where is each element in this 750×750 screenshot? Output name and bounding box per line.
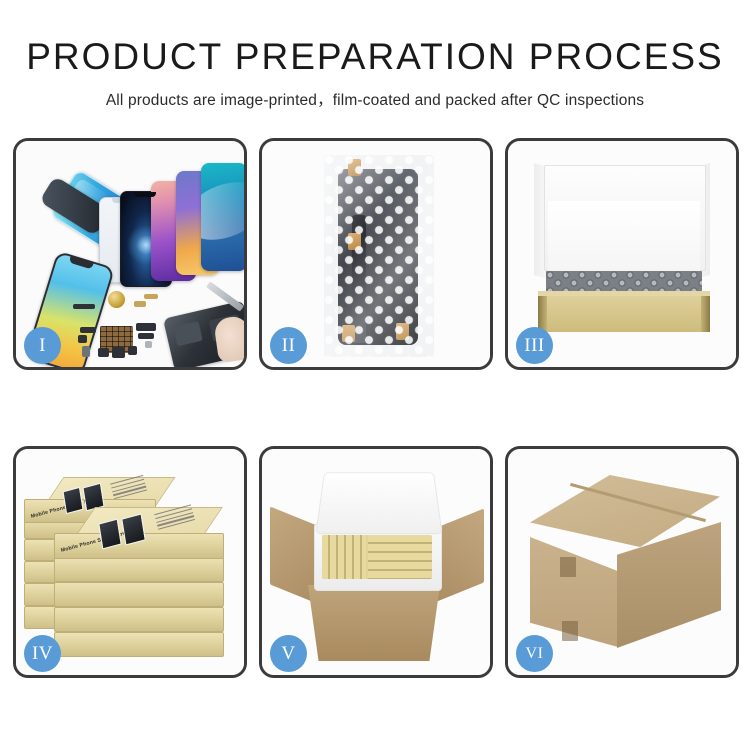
carton-tape-lower	[562, 621, 578, 641]
part-flex-cable-left	[80, 327, 96, 333]
box-label-phone-image	[121, 513, 146, 545]
step-panel-5: V	[259, 446, 493, 678]
part-button	[128, 346, 137, 355]
part-screw-set	[145, 341, 152, 348]
bubble-wrap-package	[324, 155, 434, 357]
process-steps-grid: I II	[13, 138, 739, 678]
part-connector-bar	[73, 304, 95, 309]
white-foam-sheet	[548, 201, 700, 279]
step-badge-4: IV	[24, 635, 61, 672]
page-subtitle: All products are image-printed，film-coat…	[0, 88, 750, 110]
carton-tape-upper	[560, 557, 576, 577]
step-badge-1: I	[24, 327, 61, 364]
stacked-box	[54, 557, 224, 582]
stacked-box	[54, 632, 224, 657]
stacked-box	[54, 582, 224, 607]
phone-teal-wave	[201, 163, 244, 271]
part-speaker	[98, 348, 109, 357]
box-label-phone-image	[62, 487, 83, 515]
step-panel-4: Mobile Phone Spare Parts Mobile Phone Sp…	[13, 446, 247, 678]
packed-product-boxes	[322, 535, 432, 579]
product-preparation-infographic: PRODUCT PREPARATION PROCESS All products…	[0, 0, 750, 750]
product-boxes-horizontal	[368, 535, 432, 579]
step-panel-6: VI	[505, 446, 739, 678]
part-camera-module	[112, 347, 125, 358]
header: PRODUCT PREPARATION PROCESS All products…	[0, 38, 750, 110]
part-gold-flex	[134, 301, 146, 307]
part-flex-cable-right	[136, 323, 156, 331]
carton-body	[308, 585, 440, 661]
step-panel-3: III	[505, 138, 739, 370]
part-sim-tray	[82, 346, 90, 357]
step-badge-5: V	[270, 635, 307, 672]
box-label-phone-image	[98, 519, 121, 550]
part-gold-flex-2	[144, 294, 158, 299]
part-small-block	[78, 335, 87, 343]
foam-cooler-lid	[315, 472, 442, 534]
step-badge-3: III	[516, 327, 553, 364]
technician-hand	[213, 315, 244, 363]
page-title: PRODUCT PREPARATION PROCESS	[0, 38, 750, 77]
product-boxes-vertical	[322, 535, 366, 579]
plastic-sheen	[324, 155, 434, 357]
kraft-box-front	[538, 296, 710, 332]
vibration-motor-part	[108, 291, 125, 308]
part-flex-cable-right-2	[138, 333, 154, 339]
stacked-box	[54, 607, 224, 632]
step-badge-2: II	[270, 327, 307, 364]
step-badge-6: VI	[516, 635, 553, 672]
step-panel-1: I	[13, 138, 247, 370]
step-panel-2: II	[259, 138, 493, 370]
